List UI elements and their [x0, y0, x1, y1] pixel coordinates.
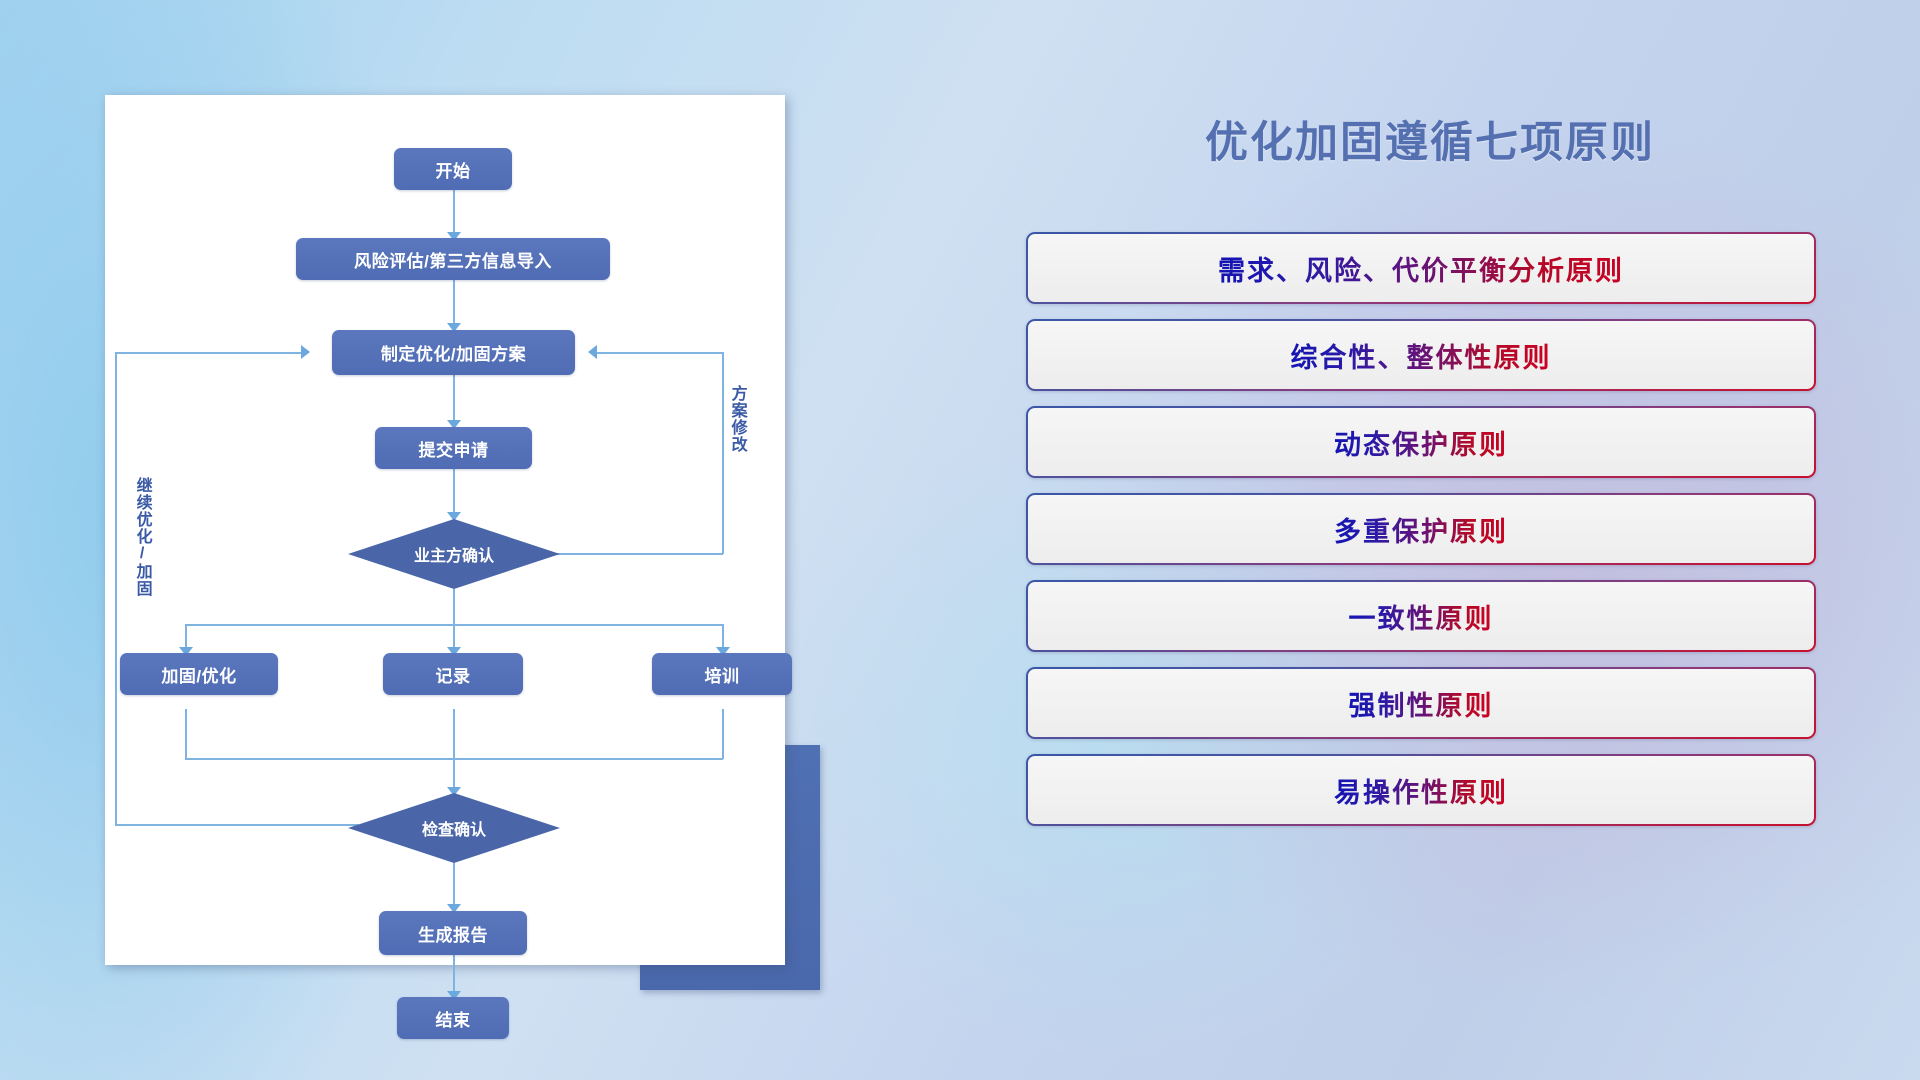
principle-label: 动态保护原则 [1334, 423, 1508, 462]
flowchart: 开始 风险评估/第三方信息导入 制定优化/加固方案 提交申请 业主方确认 加固/… [105, 95, 785, 965]
principle-item-inner: 动态保护原则 [1028, 408, 1814, 476]
edge-label-continue-optimize: 继续优化/加固 [133, 477, 150, 597]
flow-node-label: 培训 [705, 662, 740, 687]
principle-item-5[interactable]: 一致性原则 [1026, 580, 1816, 652]
principle-label: 需求、风险、代价平衡分析原则 [1218, 249, 1624, 288]
flow-node-label: 加固/优化 [161, 662, 236, 687]
flow-node-risk-assessment: 风险评估/第三方信息导入 [296, 238, 610, 280]
flow-node-label: 开始 [436, 157, 471, 182]
flow-decision-label: 检查确认 [422, 816, 486, 840]
principle-label: 多重保护原则 [1334, 510, 1508, 549]
flowchart-card: 开始 风险评估/第三方信息导入 制定优化/加固方案 提交申请 业主方确认 加固/… [105, 95, 785, 965]
flow-node-reinforce: 加固/优化 [120, 653, 278, 695]
principle-item-inner: 一致性原则 [1028, 582, 1814, 650]
arrowhead-loop-left-plan [301, 345, 310, 359]
flow-node-label: 生成报告 [418, 921, 488, 946]
flow-node-label: 风险评估/第三方信息导入 [354, 247, 552, 272]
loop-left-vertical [115, 352, 117, 825]
arrowhead-loop-right-plan [588, 345, 597, 359]
principle-label: 一致性原则 [1349, 597, 1494, 636]
connector-start-risk [453, 190, 455, 238]
edge-label-plan-revision: 方案修改 [728, 385, 745, 453]
loop-left-bottom [115, 824, 359, 826]
loop-right-vertical [722, 352, 724, 554]
principle-item-2[interactable]: 综合性、整体性原则 [1026, 319, 1816, 391]
connector-reinf-bus [185, 709, 187, 759]
principle-item-4[interactable]: 多重保护原则 [1026, 493, 1816, 565]
flow-decision-owner-confirm: 业主方确认 [348, 519, 560, 589]
flow-decision-label: 业主方确认 [414, 542, 494, 566]
flow-node-submit: 提交申请 [375, 427, 532, 469]
loop-right-bottom [537, 553, 723, 555]
flow-node-start: 开始 [394, 148, 512, 190]
flow-node-label: 记录 [436, 662, 471, 687]
connector-owner-bus [453, 589, 455, 625]
flow-node-end: 结束 [397, 997, 509, 1039]
loop-left-top [115, 352, 307, 354]
flow-decision-check-confirm: 检查确认 [348, 793, 560, 863]
flow-node-record: 记录 [383, 653, 523, 695]
flow-node-report: 生成报告 [379, 911, 527, 955]
principle-item-inner: 需求、风险、代价平衡分析原则 [1028, 234, 1814, 302]
flow-node-training: 培训 [652, 653, 792, 695]
principle-label: 强制性原则 [1349, 684, 1494, 723]
principle-item-7[interactable]: 易操作性原则 [1026, 754, 1816, 826]
flow-node-label: 结束 [436, 1006, 471, 1031]
principle-item-3[interactable]: 动态保护原则 [1026, 406, 1816, 478]
principles-list: 需求、风险、代价平衡分析原则 综合性、整体性原则 动态保护原则 多重保护原则 一… [1026, 232, 1816, 841]
flow-node-plan: 制定优化/加固方案 [332, 330, 575, 375]
flow-node-label: 制定优化/加固方案 [381, 340, 526, 365]
principle-label: 综合性、整体性原则 [1291, 336, 1552, 375]
principle-label: 易操作性原则 [1334, 771, 1508, 810]
principle-item-inner: 易操作性原则 [1028, 756, 1814, 824]
connector-train-bus [722, 709, 724, 759]
principle-item-inner: 强制性原则 [1028, 669, 1814, 737]
slide-canvas: 开始 风险评估/第三方信息导入 制定优化/加固方案 提交申请 业主方确认 加固/… [0, 0, 1920, 1080]
flow-node-label: 提交申请 [419, 436, 489, 461]
principle-item-6[interactable]: 强制性原则 [1026, 667, 1816, 739]
panel-title: 优化加固遵循七项原则 [1030, 108, 1830, 170]
principle-item-inner: 多重保护原则 [1028, 495, 1814, 563]
connector-record-check [453, 709, 455, 795]
principle-item-1[interactable]: 需求、风险、代价平衡分析原则 [1026, 232, 1816, 304]
principle-item-inner: 综合性、整体性原则 [1028, 321, 1814, 389]
loop-right-top [597, 352, 723, 354]
